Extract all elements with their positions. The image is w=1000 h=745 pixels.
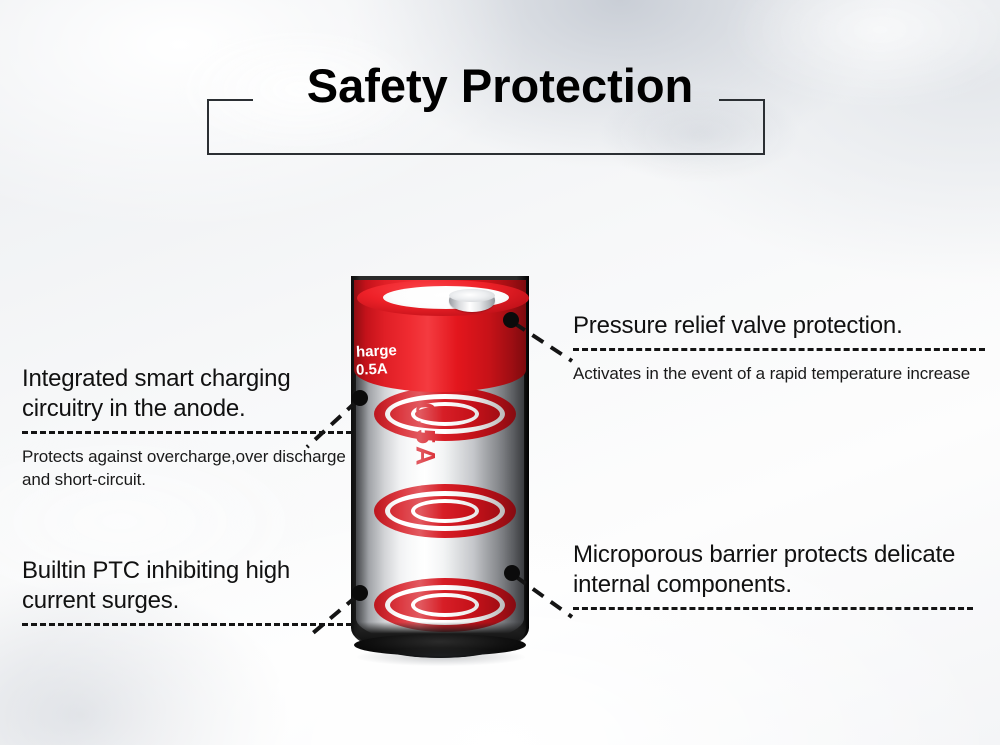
callout-ptc-headline: Builtin PTC inhibiting high current surg… <box>22 556 352 616</box>
callout-anode: Integrated smart charging circuitry in t… <box>22 364 352 491</box>
infographic-canvas: Safety Protection 0.5A <box>0 0 1000 745</box>
battery-cap-text-line-2: 0.5A <box>350 358 443 380</box>
callout-valve-headline: Pressure relief valve protection. <box>573 311 985 341</box>
target-ring-1 <box>374 387 516 441</box>
battery-red-cap: harge 0.5A <box>354 280 526 392</box>
callout-anode-rule <box>22 431 352 434</box>
callout-valve-subtext: Activates in the event of a rapid temper… <box>573 362 985 385</box>
battery-illustration: 0.5A harge 0.5A <box>351 266 529 658</box>
callout-anode-headline: Integrated smart charging circuitry in t… <box>22 364 352 424</box>
target-ring-3-core <box>411 593 479 617</box>
callout-anode-subtext: Protects against overcharge,over dischar… <box>22 445 352 491</box>
callout-valve: Pressure relief valve protection. Activa… <box>573 311 985 385</box>
callout-barrier: Microporous barrier protects delicate in… <box>573 540 973 610</box>
callout-ptc: Builtin PTC inhibiting high current surg… <box>22 556 352 626</box>
callout-barrier-headline: Microporous barrier protects delicate in… <box>573 540 973 600</box>
callout-valve-rule <box>573 348 985 351</box>
battery-body: 0.5A <box>356 370 524 644</box>
battery-cap-recess <box>383 286 509 309</box>
battery-cap-top-rim <box>357 280 529 316</box>
callout-barrier-rule <box>573 607 973 610</box>
page-title: Safety Protection <box>0 58 1000 114</box>
target-ring-2 <box>374 484 516 538</box>
title-frame-bottom-bar <box>207 153 765 155</box>
battery-ground-shadow <box>357 648 525 666</box>
battery-brand-text: 0.5A <box>410 403 441 593</box>
callout-ptc-rule <box>22 623 352 626</box>
battery-positive-terminal <box>449 289 495 312</box>
battery-terminal-face <box>449 289 495 302</box>
